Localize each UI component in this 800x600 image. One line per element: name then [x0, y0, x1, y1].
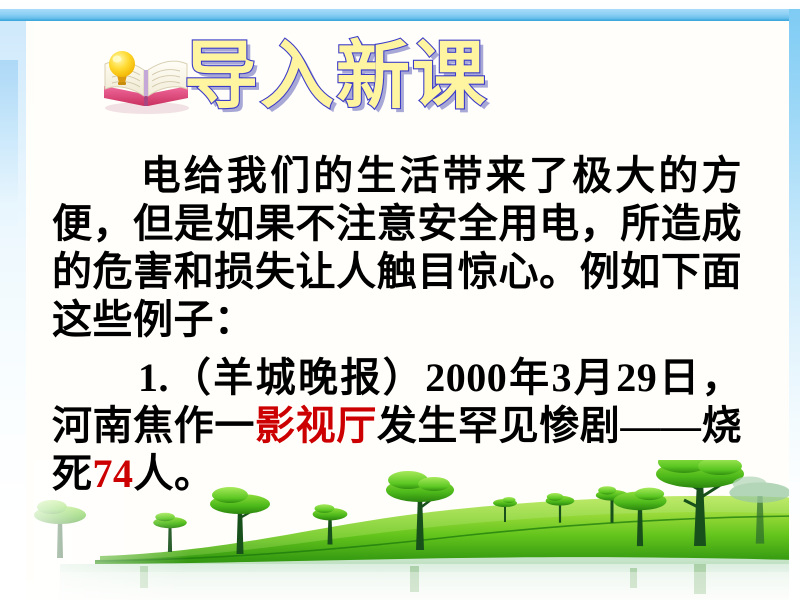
- paragraph-intro: 电给我们的生活带来了极大的方便，但是如果不注意安全用电，所造成的危害和损失让人触…: [52, 152, 742, 344]
- slide-body: 电给我们的生活带来了极大的方便，但是如果不注意安全用电，所造成的危害和损失让人触…: [52, 152, 742, 502]
- paragraph-example-1: 1.（羊城晚报）2000年3月29日，河南焦作一影视厅发生罕见惨剧——烧死74人…: [52, 354, 742, 498]
- frame-top-fade: [0, 0, 800, 9]
- paragraph-intro-text: 电给我们的生活带来了极大的方便，但是如果不注意安全用电，所造成的危害和损失让人触…: [52, 153, 742, 342]
- highlight-venue: 影视厅: [255, 403, 377, 448]
- example-tail-text: 人。: [134, 451, 215, 496]
- frame-top-hairline: [0, 20, 800, 21]
- slide-canvas: 导入新课 导入新课 电给我们的生活带来了极大的方便，但是如果不注意安全用电，所造…: [0, 0, 800, 600]
- highlight-casualty-count: 74: [93, 451, 134, 496]
- frame-top-band: [0, 9, 800, 20]
- page-title-text: 导入新课: [184, 36, 488, 118]
- slide-header: 导入新课 导入新课: [0, 26, 800, 136]
- page-title: 导入新课 导入新课: [180, 26, 520, 136]
